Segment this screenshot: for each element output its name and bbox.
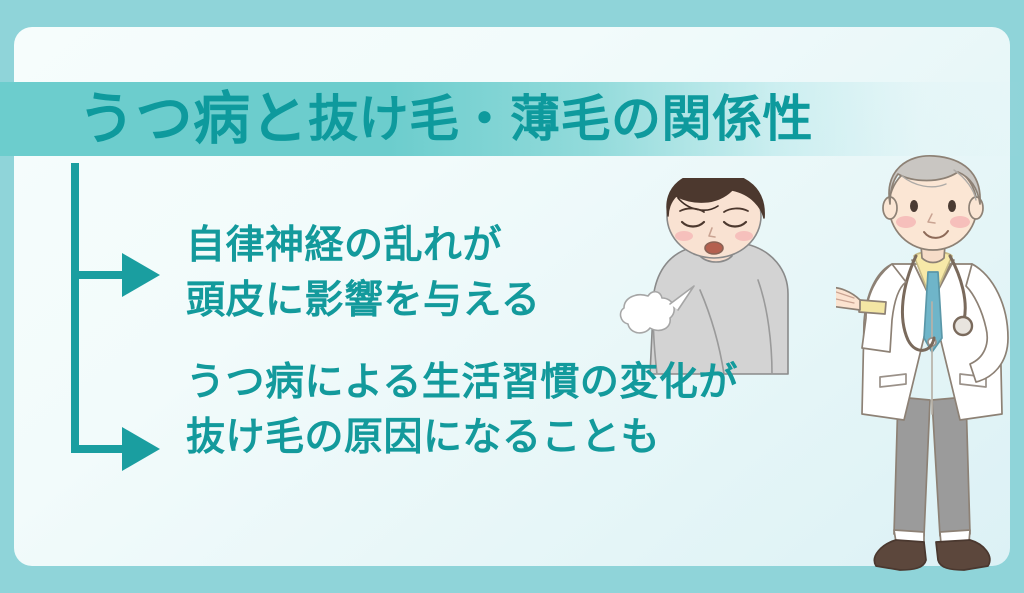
bullet-2-line-1: うつ病による生活習慣の変化が: [186, 355, 738, 410]
page-title: うつ病と抜け毛・薄毛の関係性: [0, 76, 1024, 162]
bullet-1-line-2: 頭皮に影響を与える: [186, 273, 738, 328]
title-segment-1: うつ病と: [78, 91, 308, 148]
poster-canvas: うつ病と抜け毛・薄毛の関係性 自律神経の乱れが 頭皮に影響を与える うつ病による…: [0, 0, 1024, 593]
stethoscope-chestpiece: [954, 317, 972, 335]
eye-left: [910, 200, 918, 212]
shoe-left: [874, 540, 926, 570]
bullet-item-1: 自律神経の乱れが 頭皮に影響を与える: [186, 218, 738, 329]
bullet-1-line-1: 自律神経の乱れが: [186, 218, 738, 273]
cuff-left: [859, 300, 886, 314]
cheek-right: [950, 216, 970, 228]
title-segment-2: 抜け毛・薄毛の関係性: [308, 94, 813, 144]
shoe-right: [936, 540, 990, 570]
hand-left: [836, 288, 860, 310]
bullet-item-2: うつ病による生活習慣の変化が 抜け毛の原因になることも: [186, 355, 738, 466]
bullet-list: 自律神経の乱れが 頭皮に影響を与える うつ病による生活習慣の変化が 抜け毛の原因…: [186, 218, 738, 466]
doctor-illustration: [836, 152, 1024, 577]
bullet-2-line-2: 抜け毛の原因になることも: [186, 410, 738, 465]
coat-pocket-left: [880, 374, 906, 387]
eye-right: [948, 200, 956, 212]
cheek-left: [896, 216, 916, 228]
